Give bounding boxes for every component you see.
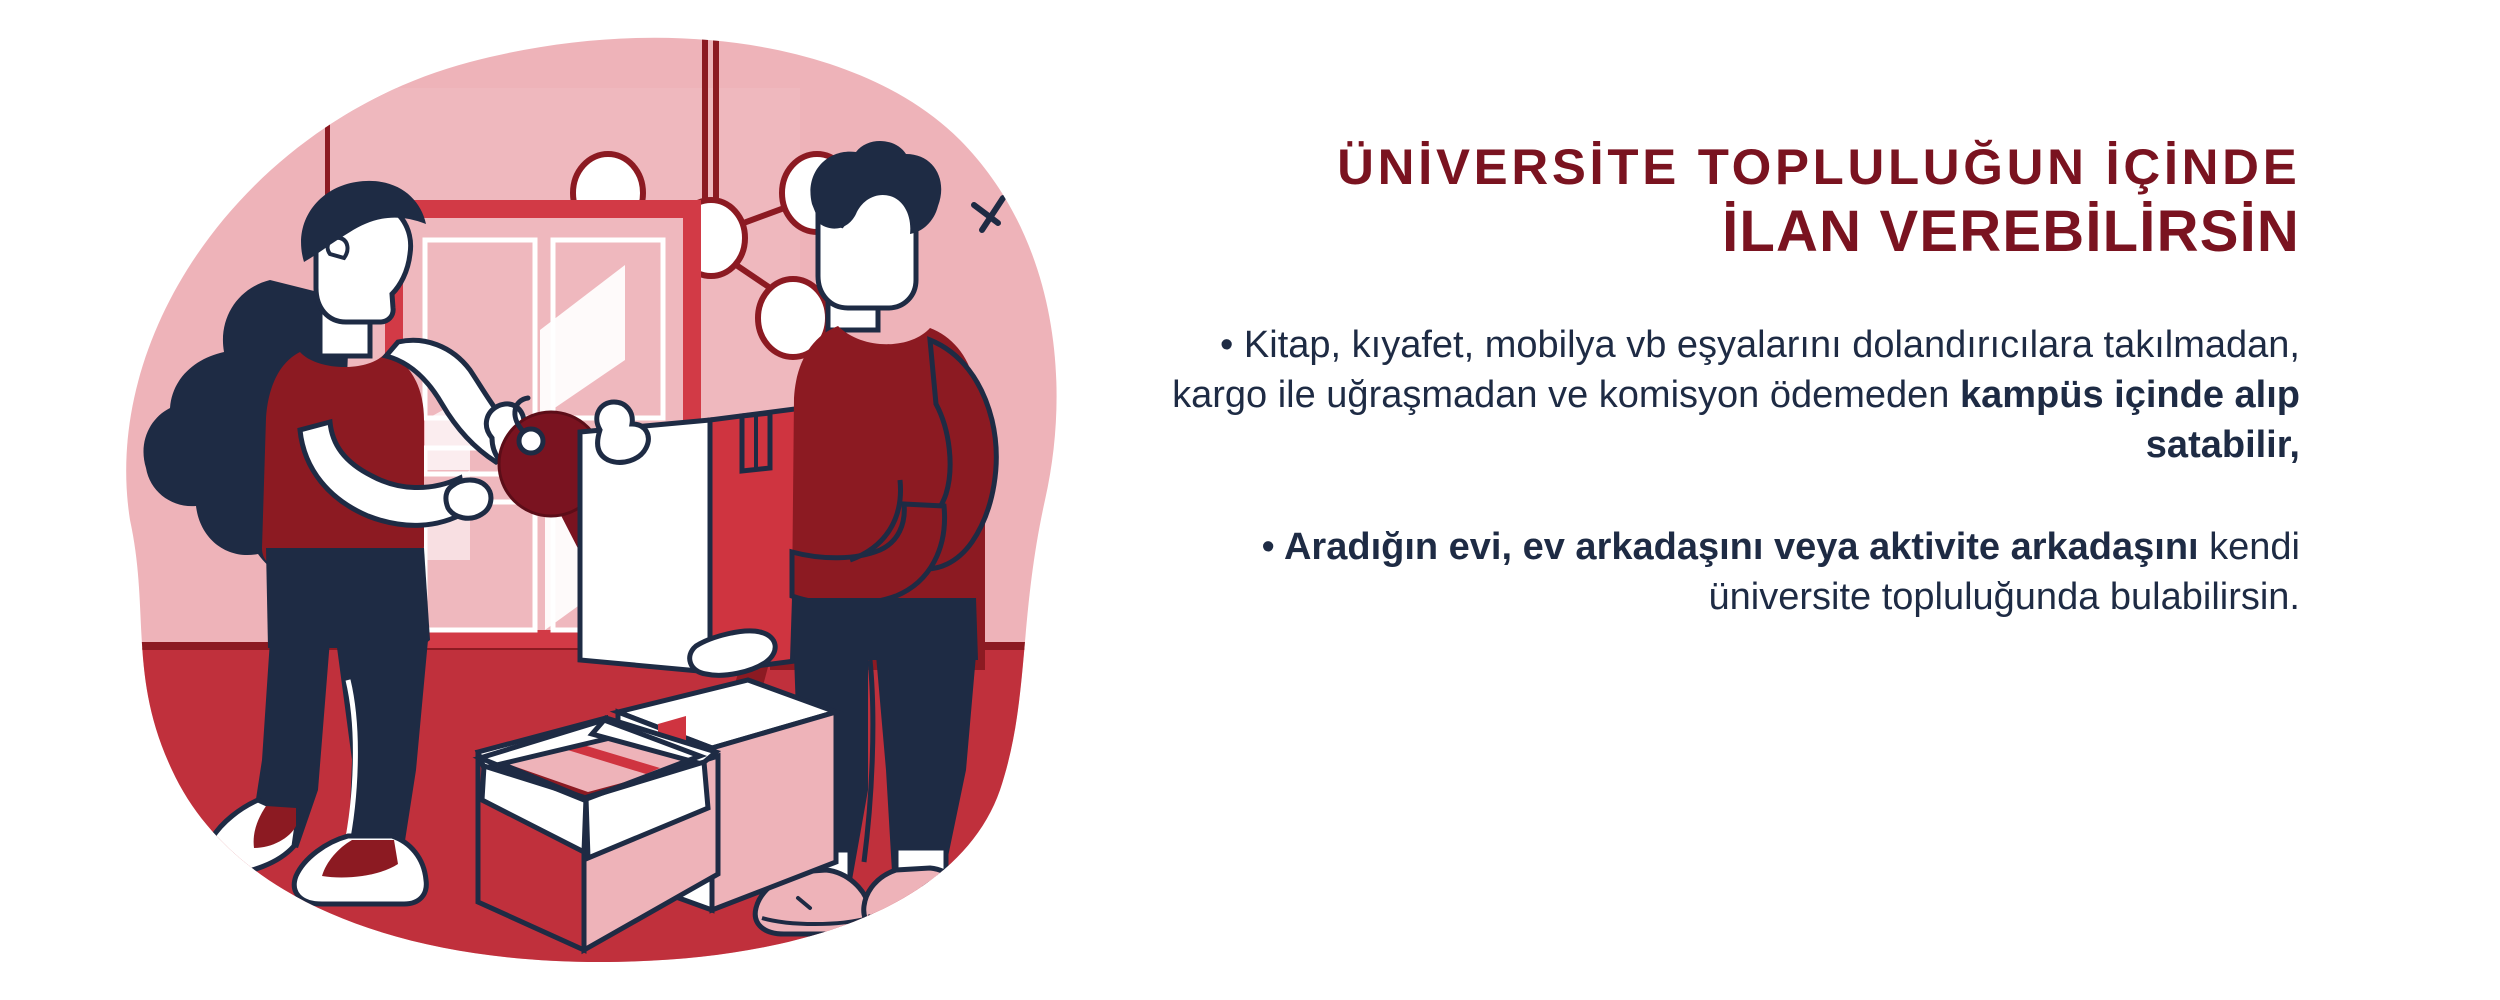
- illustration-artwork: [0, 0, 1160, 1000]
- bullet-paragraph-2: • Aradığın evi, ev arkadaşını veya aktiv…: [1120, 522, 2300, 622]
- poster-canvas: ÜNİVERSİTE TOPLULUĞUN İÇİNDE İLAN VEREBİ…: [0, 0, 2500, 1000]
- headline-line-2: İLAN VEREBİLİRSİN: [1722, 200, 2300, 264]
- pink-blob-background: [0, 0, 1160, 1000]
- illustration-svg: [0, 0, 1160, 1000]
- bullet-marker: •: [1220, 324, 1233, 366]
- circle-decoration: [986, 121, 1020, 155]
- shoe-right-man: [864, 868, 973, 932]
- bullet-paragraph-1: • Kitap, kıyafet, mobilya vb eşyalarını …: [1120, 320, 2300, 470]
- headline-line-1: ÜNİVERSİTE TOPLULUĞUN İÇİNDE: [1337, 140, 2300, 194]
- body-copy: • Kitap, kıyafet, mobilya vb eşyalarını …: [1120, 320, 2300, 623]
- text-column: ÜNİVERSİTE TOPLULUĞUN İÇİNDE İLAN VEREBİ…: [1120, 0, 2300, 1000]
- sparkle-decoration: [257, 131, 286, 163]
- body-segment-1: Aradığın evi, ev arkadaşını veya aktivit…: [1275, 526, 2199, 568]
- bullet-marker: •: [1262, 526, 1275, 568]
- body-segment-2: kampüs içinde alıp satabilir,: [1960, 374, 2300, 466]
